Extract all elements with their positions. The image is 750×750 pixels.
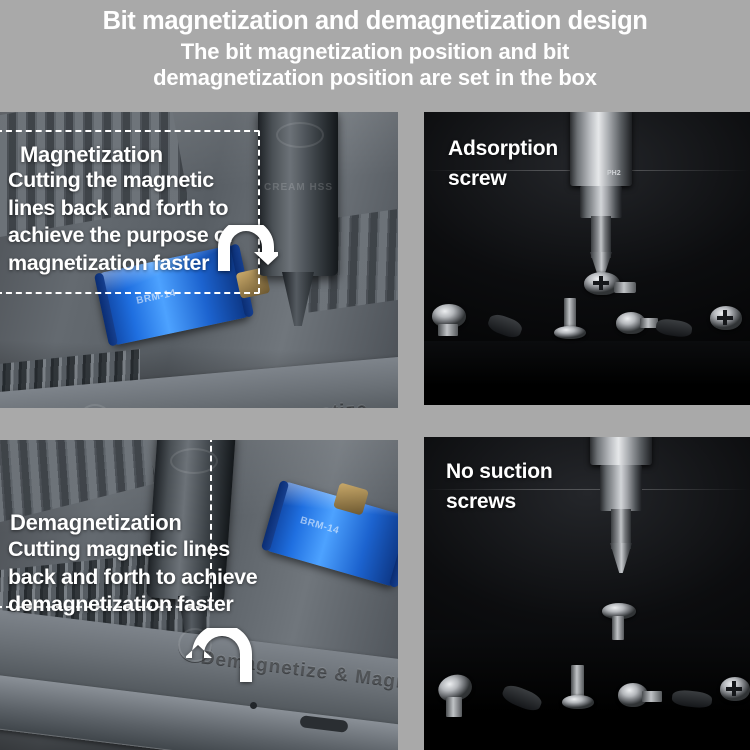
- demagnetization-body-line-1: Cutting magnetic lines: [8, 536, 278, 564]
- fallen-screw-7-cross-h: [726, 687, 742, 691]
- fallen-screw-2-shaft: [446, 697, 462, 717]
- fallen-screw-1-shaft: [612, 616, 624, 640]
- no-suction-label-line-1: No suction: [446, 457, 553, 487]
- fallen-screw-5-shaft: [642, 691, 662, 702]
- demagnetization-heading: Demagnetization: [10, 510, 182, 536]
- bit-holder-collar: [580, 186, 622, 218]
- magnetization-body-line-2: lines back and forth to: [8, 195, 258, 223]
- page-subtitle-line-1: The bit magnetization position and bit: [95, 39, 655, 66]
- phillips-bit-tip-2: [610, 543, 632, 573]
- magnetizer-label-demag: BRM-14: [299, 515, 341, 537]
- loose-screw-3-head: [554, 326, 586, 339]
- demagnetization-body-line-2: back and forth to achieve: [8, 564, 278, 592]
- bit-shank: [591, 216, 611, 258]
- no-suction-label-line-2: screws: [446, 487, 553, 517]
- adsorbed-screw-shaft: [614, 282, 636, 293]
- page-subtitle-line-2: demagnetization position are set in the …: [95, 65, 655, 92]
- loose-screw-2: [486, 312, 524, 341]
- adsorption-label-line-1: Adsorption: [448, 134, 558, 164]
- panel-demagnetization: BRM-14 Demagnetize & Magnetize Demagneti…: [0, 440, 398, 750]
- driver-label: CREAM HSS: [264, 182, 333, 193]
- magnetization-heading: Magnetization: [20, 142, 163, 168]
- barrel-marking: PH2: [607, 170, 621, 177]
- u-turn-arrow-left-icon: [186, 628, 252, 686]
- bit-holder-barrel: [570, 112, 632, 186]
- loose-screw-5: [655, 318, 693, 339]
- adsorption-label-line-2: screw: [448, 164, 558, 194]
- adsorbed-screw-cross-h: [593, 281, 609, 285]
- bit-holder-barrel-2: [590, 437, 652, 465]
- header-banner: Bit magnetization and demagnetization de…: [0, 0, 750, 112]
- indicator-hole-demag: [250, 702, 257, 709]
- loose-screw-1-shaft: [438, 324, 458, 336]
- studio-floor-2: [424, 630, 750, 750]
- no-suction-screws-label: No suction screws: [446, 457, 553, 518]
- panel-magnetization: Demagnetize & Magnetize BRM-14 CREAM HSS…: [0, 112, 398, 408]
- bit-holder-collar-2: [600, 465, 642, 511]
- blue-magnetizer-block-demag: BRM-14: [261, 480, 398, 588]
- adsorption-screw-label: Adsorption screw: [448, 134, 558, 195]
- demagnetization-body: Cutting magnetic lines back and forth to…: [8, 536, 278, 619]
- magnetizer-cap-right-demag: [389, 516, 398, 588]
- studio-floor: [424, 341, 750, 405]
- driver-logo-icon: [276, 122, 324, 148]
- u-turn-arrow-right-icon: [216, 225, 278, 277]
- panel-adsorption-screw: PH2 Adsorpt: [424, 112, 750, 405]
- fallen-screw-4-head: [562, 695, 594, 709]
- page-title: Bit magnetization and demagnetization de…: [0, 0, 750, 36]
- magnetization-body-line-1: Cutting the magnetic: [8, 167, 258, 195]
- panel-no-suction-screws: PH2 No suction screws: [424, 437, 750, 750]
- page-subtitle: The bit magnetization position and bit d…: [95, 36, 655, 93]
- demagnetization-body-line-3: demagnetization faster: [8, 591, 278, 619]
- loose-screw-6-cross-h: [717, 316, 733, 320]
